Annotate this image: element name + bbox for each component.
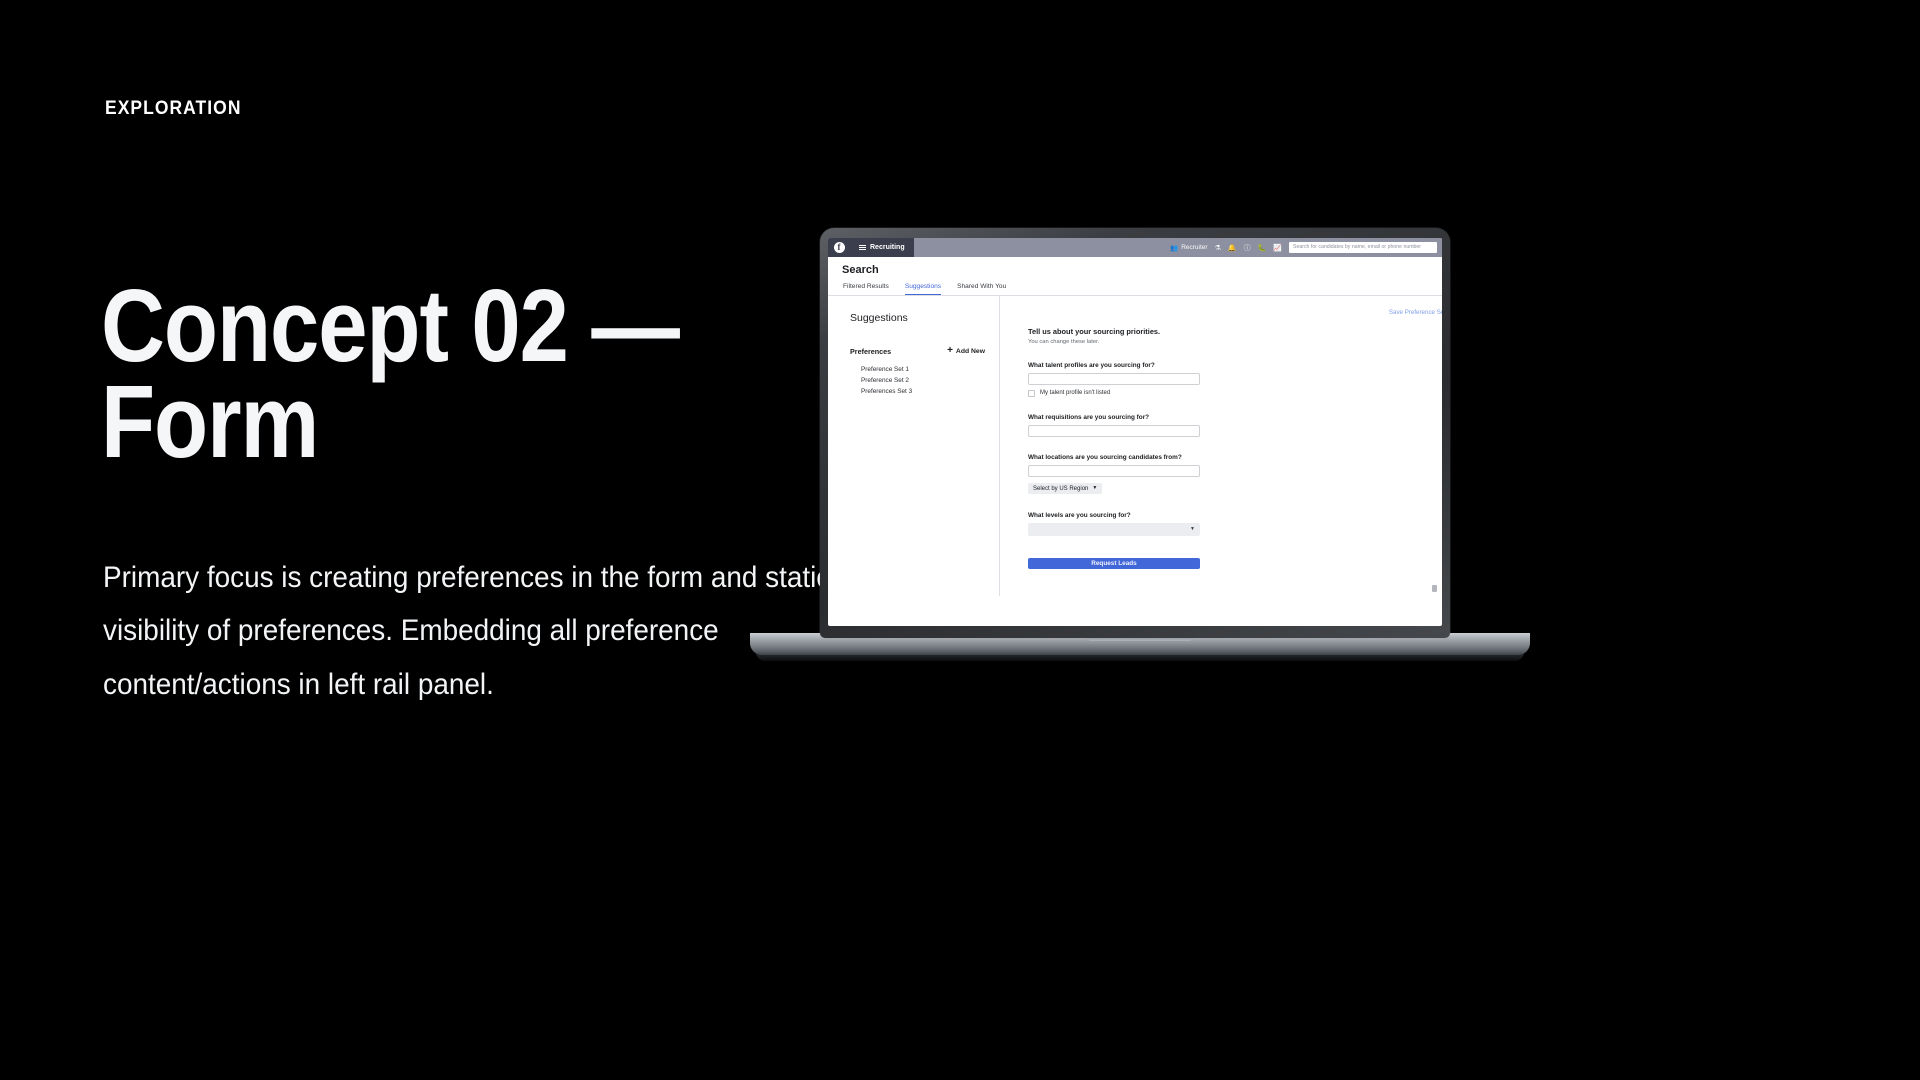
levels-label: What levels are you sourcing for? [1028,512,1200,519]
nav-app-button[interactable]: Recruiting [850,238,914,257]
checkbox[interactable] [1028,390,1035,397]
page-content: Suggestions Preferences + Add New Prefer… [828,296,1442,596]
select-us-region-chip[interactable]: Select by US Region ▼ [1028,483,1102,494]
people-icon: 👥 [1170,244,1178,252]
page-title: Concept 02 — Form [101,278,720,470]
analytics-icon[interactable]: 📈 [1273,244,1282,252]
brand-logo-icon[interactable]: f [828,238,850,257]
preferences-label: Preferences [850,347,891,356]
caret-down-icon: ▼ [1092,486,1097,491]
account-switcher[interactable]: 👥 Recruiter [1170,244,1207,252]
preference-set-list: Preference Set 1 Preference Set 2 Prefer… [850,365,999,397]
candidate-search-input[interactable]: Search for candidates by name, email or … [1289,242,1437,253]
preferences-header: Preferences + Add New [850,346,999,356]
slide-canvas: EXPLORATION Concept 02 — Form Primary fo… [0,0,1920,1080]
nav-app-label: Recruiting [870,244,905,251]
bug-icon[interactable]: 🐛 [1258,244,1267,252]
app-navbar: f Recruiting 👥 Recruiter ⚗ 🔔 [828,238,1442,257]
form-panel: Save Preference Set Tell us about your s… [1000,296,1442,596]
requisitions-label: What requisitions are you sourcing for? [1028,414,1200,421]
locations-input[interactable] [1028,465,1200,477]
form-subheading: You can change these later. [1028,339,1200,345]
eyebrow-label: EXPLORATION [105,98,242,120]
rail-title: Suggestions [850,312,999,324]
talent-profiles-input[interactable] [1028,373,1200,385]
scrollbar[interactable] [1432,585,1437,592]
help-icon[interactable]: ⓘ [1244,243,1251,253]
page-tabs: Filtered Results Suggestions Shared With… [842,283,1442,295]
tab-shared-with-you[interactable]: Shared With You [957,283,1006,295]
account-label: Recruiter [1181,244,1207,251]
talent-profiles-label: What talent profiles are you sourcing fo… [1028,362,1200,369]
request-leads-button[interactable]: Request Leads [1028,558,1200,569]
body-paragraph: Primary focus is creating preferences in… [103,551,838,711]
list-item[interactable]: Preferences Set 3 [861,387,999,398]
form-heading: Tell us about your sourcing priorities. [1028,327,1200,336]
list-item[interactable]: Preference Set 2 [861,376,999,387]
left-rail-panel: Suggestions Preferences + Add New Prefer… [828,296,1000,596]
bell-icon[interactable]: 🔔 [1228,244,1237,252]
checkbox-label: My talent profile isn't listed [1040,390,1110,396]
hamburger-icon[interactable] [859,243,866,252]
list-item[interactable]: Preference Set 1 [861,365,999,376]
requisitions-input[interactable] [1028,425,1200,437]
tab-suggestions[interactable]: Suggestions [905,283,941,295]
search-page-title: Search [842,264,1442,276]
caret-down-icon: ▼ [1190,527,1195,532]
levels-select[interactable]: ▼ [1028,523,1200,536]
talent-profile-not-listed-row[interactable]: My talent profile isn't listed [1028,390,1200,397]
add-new-label: Add New [956,348,985,355]
add-new-button[interactable]: + Add New [947,346,985,356]
chip-label: Select by US Region [1033,486,1088,492]
laptop-mockup: f Recruiting 👥 Recruiter ⚗ 🔔 [750,228,1530,678]
form-body: Tell us about your sourcing priorities. … [1000,327,1200,569]
locations-label: What locations are you sourcing candidat… [1028,454,1200,461]
nav-actions: 👥 Recruiter ⚗ 🔔 ⓘ 🐛 📈 Search for candida… [1170,242,1442,253]
page-header: Search Filtered Results Suggestions Shar… [828,257,1442,295]
flask-icon[interactable]: ⚗ [1215,244,1221,252]
brand-logo-glyph: f [834,242,845,253]
laptop-lid: f Recruiting 👥 Recruiter ⚗ 🔔 [820,228,1450,638]
plus-icon: + [947,346,953,356]
tab-filtered-results[interactable]: Filtered Results [843,283,889,295]
app-screen: f Recruiting 👥 Recruiter ⚗ 🔔 [828,238,1442,626]
save-preference-set-link[interactable]: Save Preference Set [1389,309,1442,316]
